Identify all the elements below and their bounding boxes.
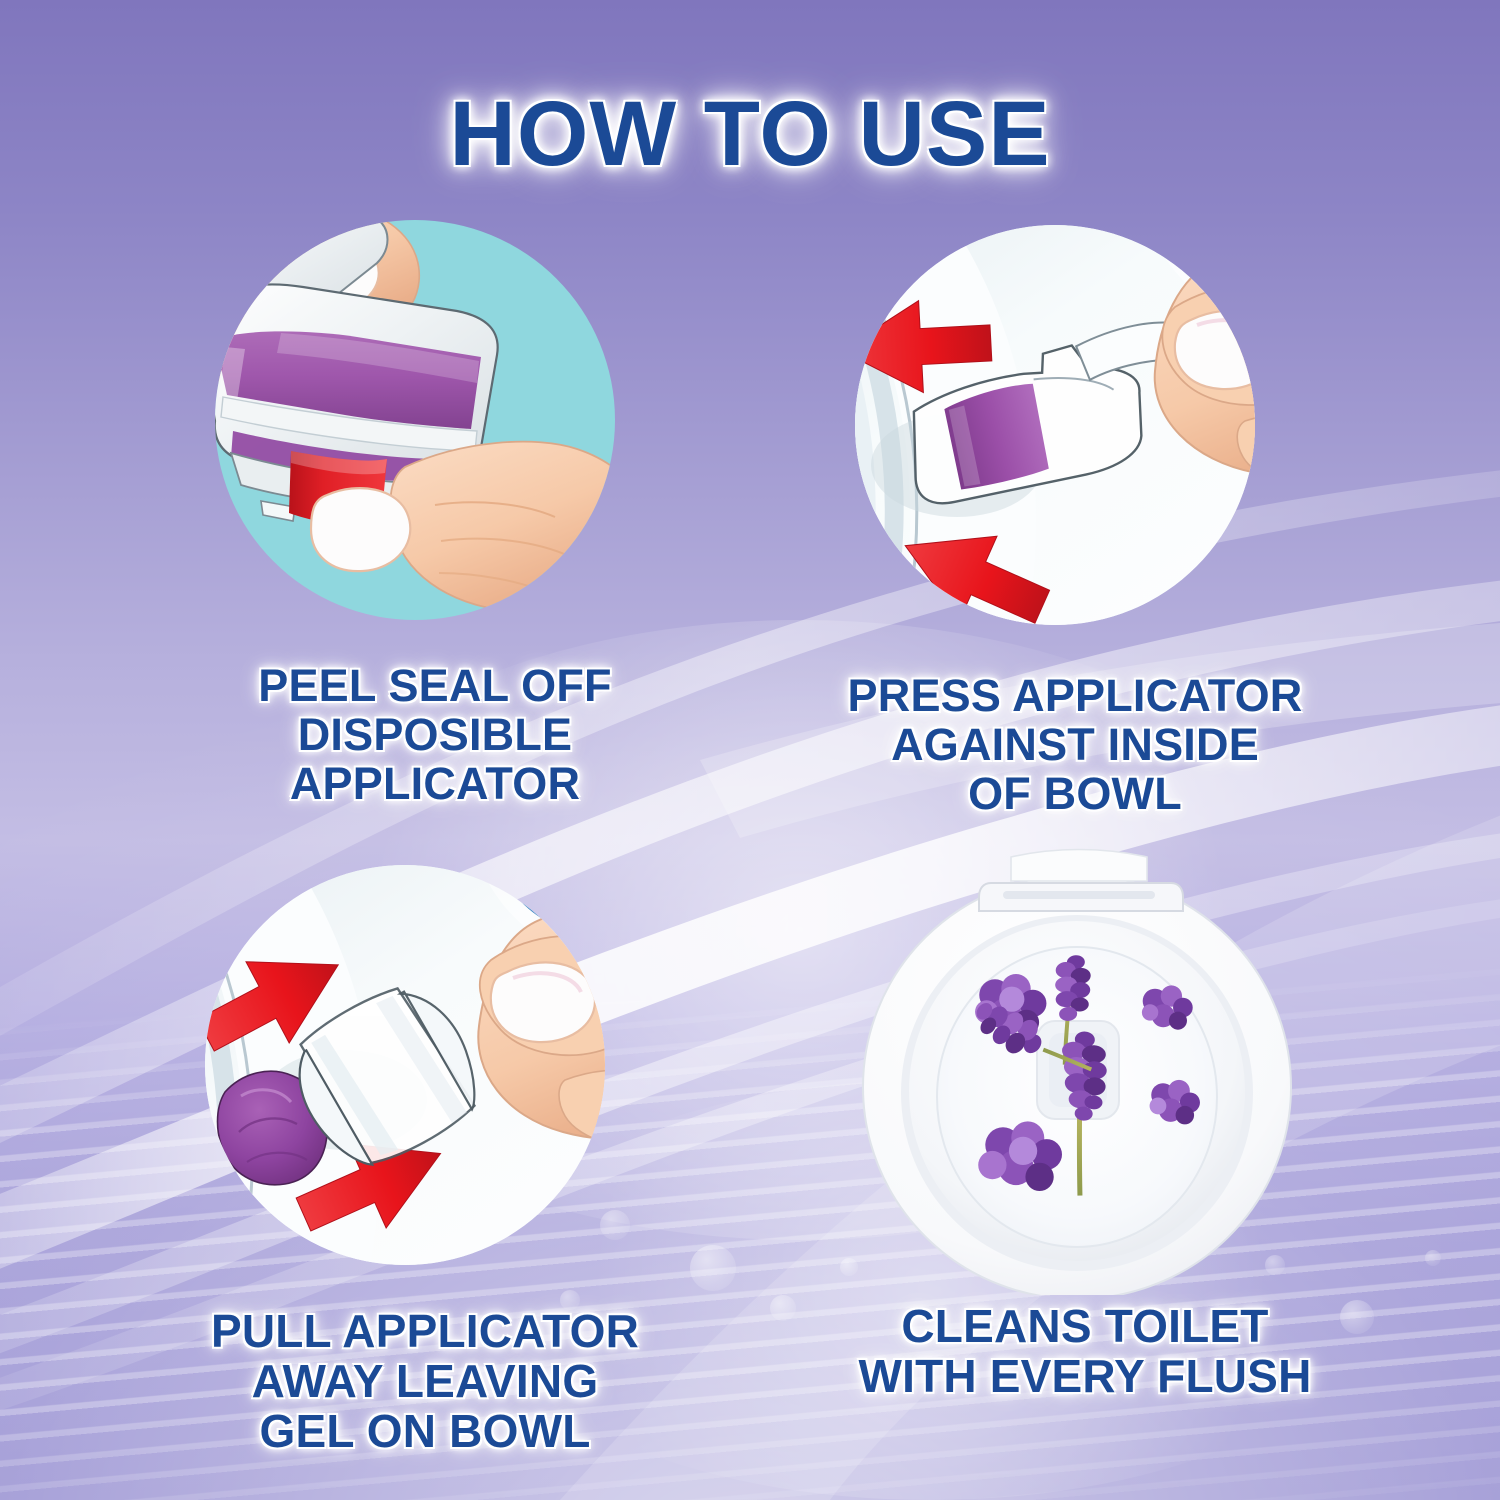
step-press-applicator: PRESS APPLICATOR AGAINST INSIDE OF BOWL	[745, 215, 1405, 818]
step-peel-seal: PEEL SEAL OFF DISPOSIBLE APPLICATOR	[105, 205, 765, 808]
step-4-caption: CLEANS TOILET WITH EVERY FLUSH	[755, 1301, 1415, 1401]
step-2-illustration	[745, 215, 1405, 665]
step-pull-applicator-away: PULL APPLICATOR AWAY LEAVING GEL ON BOWL	[95, 850, 755, 1456]
step-3-illustration	[95, 850, 755, 1300]
step-2-caption: PRESS APPLICATOR AGAINST INSIDE OF BOWL	[745, 671, 1405, 818]
step-4-illustration	[755, 845, 1415, 1295]
step-1-caption: PEEL SEAL OFF DISPOSIBLE APPLICATOR	[105, 661, 765, 808]
step-3-caption: PULL APPLICATOR AWAY LEAVING GEL ON BOWL	[95, 1306, 755, 1456]
step-1-illustration	[105, 205, 765, 655]
step-cleans-with-flush: CLEANS TOILET WITH EVERY FLUSH	[755, 845, 1415, 1401]
steps-grid: PEEL SEAL OFF DISPOSIBLE APPLICATOR	[0, 0, 1500, 1500]
